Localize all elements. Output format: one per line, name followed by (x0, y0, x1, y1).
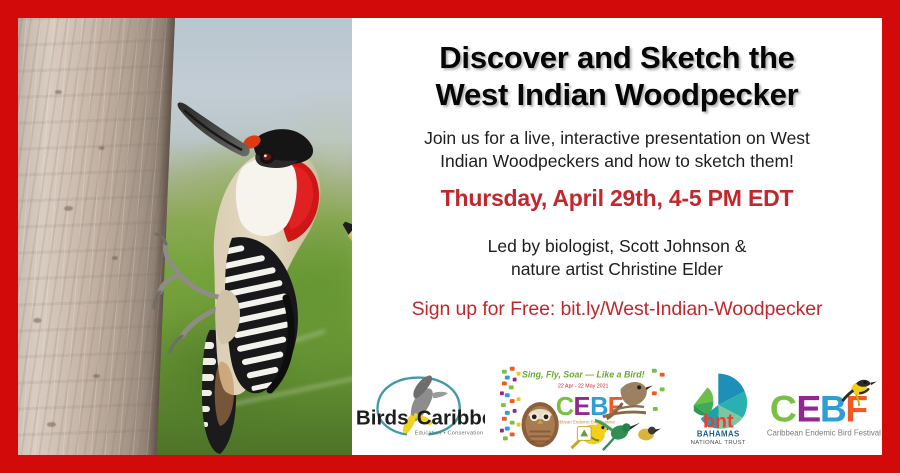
promotional-poster: Discover and Sketch the West Indian Wood… (0, 0, 900, 473)
content-panel: Discover and Sketch the West Indian Wood… (352, 18, 882, 455)
logo-strip: Birds Caribbean Education • Conservation… (352, 359, 882, 455)
cebf-poster-acronym: C E B F (556, 393, 624, 421)
cebf-logo: C E B F Caribbean Endemic Bird Festi (766, 370, 882, 444)
event-description: Join us for a live, interactive presenta… (378, 127, 856, 172)
cebf-poster-thumbnail: Sing, Fly, Soar — Like a Bird! 22 Apr - … (497, 363, 670, 451)
event-datetime: Thursday, April 29th, 4-5 PM EDT (368, 185, 866, 212)
cebf-poster-slogan: Sing, Fly, Soar — Like a Bird! (522, 370, 645, 380)
poster-center-badge (578, 427, 592, 441)
svg-text:E: E (574, 393, 591, 421)
bnt-line-2: NATIONAL TRUST (690, 440, 745, 446)
signup-link[interactable]: Sign up for Free: bit.ly/West-Indian-Woo… (368, 298, 866, 321)
woodpecker-photo (18, 18, 352, 455)
svg-text:C: C (556, 393, 574, 421)
bahamas-national-trust-logo: bnt BAHAMAS NATIONAL TRUST (682, 365, 755, 449)
cebf-subtitle: Caribbean Endemic Bird Festival (767, 428, 881, 437)
bird-foot (160, 244, 222, 336)
poster-owl-illustration (522, 402, 559, 447)
cebf-letter-e: E (797, 388, 822, 430)
bnt-line-1: BAHAMAS (697, 429, 740, 438)
presenter-line-2: nature artist Christine Elder (511, 259, 723, 279)
presenter-line-1: Led by biologist, Scott Johnson & (488, 236, 747, 256)
birdscaribbean-word1: Birds (356, 407, 409, 430)
headline-line-2: West Indian Woodpecker (368, 77, 866, 114)
birdscaribbean-word2: Caribbean (417, 407, 486, 430)
description-line-1: Join us for a live, interactive presenta… (424, 128, 810, 148)
page-title: Discover and Sketch the West Indian Wood… (368, 40, 866, 113)
birdscaribbean-tagline: Education • Conservation • Science • Act… (415, 430, 486, 436)
headline-line-1: Discover and Sketch the (368, 40, 866, 77)
cebf-poster-dates: 22 Apr - 22 May 2021 (558, 383, 609, 389)
west-indian-woodpecker (136, 62, 352, 455)
cebf-letter-b: B (820, 388, 847, 430)
description-line-2: Indian Woodpeckers and how to sketch the… (440, 151, 794, 171)
birdscaribbean-logo: Birds Caribbean Education • Conservation… (352, 371, 485, 443)
cebf-letter-c: C (770, 388, 797, 430)
event-presenters: Led by biologist, Scott Johnson & nature… (368, 235, 866, 281)
